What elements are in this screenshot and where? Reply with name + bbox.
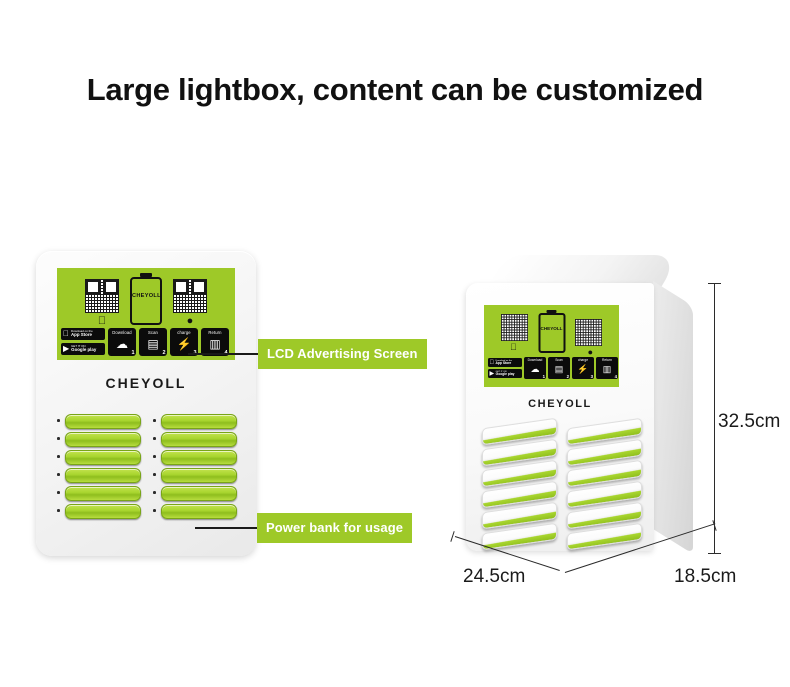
power-bank-slot (57, 468, 141, 481)
battery-logo-icon: CHEYOLL (538, 313, 565, 353)
play-icon: ▶ (490, 371, 495, 377)
cloud-download-icon: ☁ (116, 338, 128, 350)
apple-icon:  (510, 343, 517, 352)
store-badges-group:  Download on the App Store ▶ GET IT ON … (61, 328, 105, 355)
callout-leader-line (195, 527, 257, 529)
power-bank-unit (161, 450, 237, 465)
dimension-label-width: 24.5cm (463, 566, 525, 588)
google-play-badge: ▶ GET IT ON Google play (61, 343, 105, 355)
battery-logo-icon: CHEYOLL (130, 277, 162, 325)
qr-code-ios (85, 279, 119, 313)
google-play-badge: ▶ GET IT ON Google play (488, 369, 522, 378)
scan-frame-icon: ▤ (147, 338, 158, 350)
power-bank-unit (65, 432, 141, 447)
charging-station-front-view:  CHEYOLL ●  Download on the App Store (36, 251, 256, 556)
step-scan: Scan ▤ 2 (548, 357, 570, 379)
brand-name: CHEYOLL (466, 398, 654, 410)
play-icon: ▶ (63, 345, 69, 353)
power-bank-unit (161, 414, 237, 429)
step-scan-caption: Scan (548, 358, 570, 362)
step-download: Download ☁ 1 (524, 357, 546, 379)
dimension-label-height: 32.5cm (718, 411, 780, 433)
screen-top-section:  CHEYOLL ● (57, 274, 235, 326)
charging-station-3d-view:  CHEYOLL ●  Download on the App Store (440, 255, 740, 575)
cloud-download-icon: ☁ (531, 365, 540, 374)
power-bank-slot-grid-3d (482, 423, 642, 545)
step-return-caption: Return (596, 358, 618, 362)
slot-led-indicator (57, 455, 60, 458)
step-download-caption: Download (524, 358, 546, 362)
google-play-badge-big: Google play (71, 348, 96, 352)
battery-logo-text: CHEYOLL (540, 326, 563, 331)
app-store-badge-big: App Store (496, 362, 512, 365)
power-bank-slot (57, 486, 141, 499)
callout-leader-line (188, 353, 258, 355)
power-bank-slot (57, 414, 141, 427)
step-download-caption: Download (108, 330, 136, 335)
cabinet-front-face:  CHEYOLL ●  Download on the App Store (466, 283, 654, 551)
step-return: Return ▥ 4 (596, 357, 618, 379)
qr-code-android (575, 319, 602, 346)
step-download-number: 1 (543, 374, 545, 379)
callout-power-bank: Power bank for usage (195, 513, 412, 543)
dimension-line-height (714, 283, 715, 554)
power-bank-slot (57, 504, 141, 517)
callout-label: LCD Advertising Screen (258, 339, 427, 369)
step-return-number: 4 (615, 374, 617, 379)
step-scan: Scan ▤ 2 (139, 328, 167, 356)
apple-icon:  (490, 360, 495, 366)
step-scan-number: 2 (162, 350, 165, 356)
android-icon: ● (588, 348, 593, 357)
page-title: Large lightbox, content can be customize… (0, 72, 790, 108)
power-bank-slot (57, 450, 141, 463)
google-play-badge-big: Google play (496, 373, 515, 376)
qr-code-ios (501, 314, 528, 341)
power-bank-unit (65, 504, 141, 519)
slot-led-indicator (153, 491, 156, 494)
callout-lcd-advertising-screen: LCD Advertising Screen (188, 339, 427, 369)
power-bank-slot (153, 414, 237, 427)
step-download: Download ☁ 1 (108, 328, 136, 356)
android-icon: ● (182, 316, 198, 327)
power-bank-unit (65, 486, 141, 501)
power-bank-unit (65, 450, 141, 465)
app-store-badge:  Download on the App Store (488, 358, 522, 367)
power-bank-unit (161, 432, 237, 447)
step-charge-caption: charge (170, 330, 198, 335)
slot-led-indicator (153, 437, 156, 440)
slot-led-indicator (57, 419, 60, 422)
power-bank-unit (161, 468, 237, 483)
slot-led-indicator (153, 509, 156, 512)
dimension-tick-top (708, 283, 721, 284)
apple-icon:  (63, 330, 69, 338)
power-bank-slot (153, 468, 237, 481)
callout-label: Power bank for usage (257, 513, 412, 543)
slot-led-indicator (57, 437, 60, 440)
dimension-tick-bottom (708, 553, 721, 554)
apple-icon:  (94, 316, 110, 327)
step-scan-caption: Scan (139, 330, 167, 335)
instruction-steps-row-3d:  Download on the App Store ▶ GET IT ON … (488, 357, 618, 379)
dimension-label-depth: 18.5cm (674, 566, 736, 588)
return-slot-icon: ▥ (603, 365, 612, 374)
slot-led-indicator (153, 455, 156, 458)
step-return-caption: Return (201, 330, 229, 335)
step-charge-number: 3 (591, 374, 593, 379)
cabinet-side-face (653, 281, 693, 554)
step-scan-number: 2 (567, 374, 569, 379)
scan-frame-icon: ▤ (555, 365, 564, 374)
power-bank-slot-grid (57, 414, 237, 517)
step-charge-caption: charge (572, 358, 594, 362)
power-bank-unit (161, 486, 237, 501)
power-bank-slot (153, 486, 237, 499)
store-badges-group:  Download on the App Store ▶ GET IT ON … (488, 357, 522, 378)
battery-logo-text: CHEYOLL (132, 293, 160, 299)
power-bank-unit (65, 468, 141, 483)
product-image-canvas: Large lightbox, content can be customize… (0, 0, 790, 687)
lcd-advertising-screen-3d:  CHEYOLL ●  Download on the App Store (484, 305, 619, 387)
slot-led-indicator (153, 473, 156, 476)
app-store-badge:  Download on the App Store (61, 328, 105, 340)
step-download-number: 1 (131, 350, 134, 356)
app-store-badge-big: App Store (71, 333, 93, 337)
slot-led-indicator (57, 509, 60, 512)
step-charge: charge ⚡ 3 (572, 357, 594, 379)
power-bank-slot (153, 450, 237, 463)
battery-bolt-icon: ⚡ (577, 365, 588, 374)
brand-name: CHEYOLL (36, 375, 256, 391)
slot-led-indicator (57, 491, 60, 494)
power-bank-unit (65, 414, 141, 429)
slot-led-indicator (153, 419, 156, 422)
power-bank-slot (57, 432, 141, 445)
qr-code-android (173, 279, 207, 313)
slot-led-indicator (57, 473, 60, 476)
power-bank-slot (153, 432, 237, 445)
